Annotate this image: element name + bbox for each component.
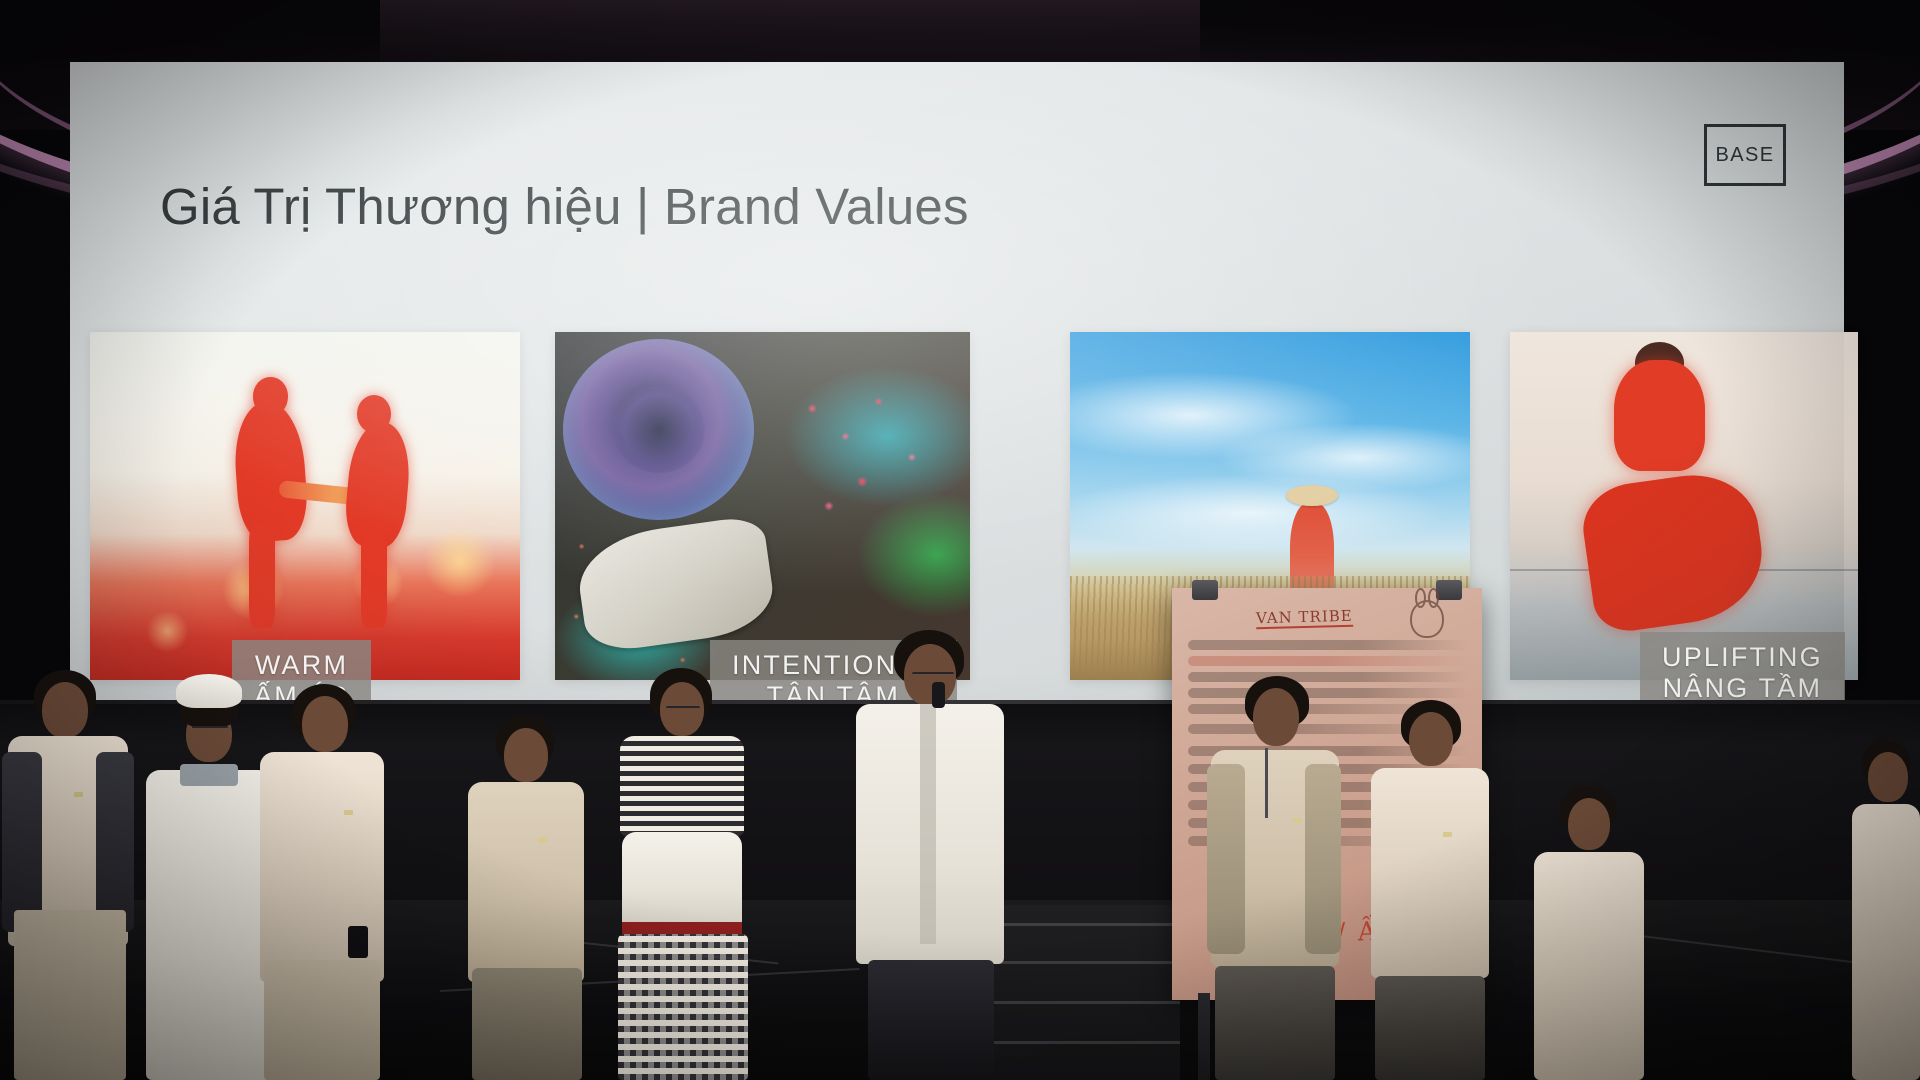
couple-running-on-beach-photo (90, 332, 520, 680)
succulent-garden-photo (555, 332, 970, 680)
base-logo: BASE (1704, 124, 1786, 186)
eyeglasses (192, 726, 228, 732)
stage-scene: Giá Trị Thương hiệu | Brand Values BASE (0, 0, 1920, 1080)
brand-value-image-warm (90, 332, 520, 680)
staff-member-9 (1852, 700, 1920, 1080)
slide-title: Giá Trị Thương hiệu | Brand Values (160, 177, 969, 236)
staff-member-3 (252, 660, 392, 1080)
staff-member-5 (612, 650, 752, 1080)
presenter-with-microphone (850, 630, 1010, 1080)
eyeglasses (666, 706, 700, 712)
bunny-doodle-icon (1410, 600, 1444, 638)
mobile-phone (348, 926, 368, 958)
staff-member-4 (460, 680, 592, 1080)
parent-lifting-child-photo (1510, 332, 1858, 680)
base-logo-text: BASE (1716, 144, 1775, 167)
brand-value-image-intentional (555, 332, 970, 680)
staff-member-8 (1530, 720, 1650, 1080)
staff-member-1 (0, 660, 150, 1080)
projection-screen: Giá Trị Thương hiệu | Brand Values BASE (70, 62, 1844, 702)
handheld-microphone (932, 682, 945, 708)
ceiling-shadow (380, 0, 1200, 70)
flipchart-heading: VAN TRIBE (1256, 607, 1353, 630)
caption-uplifting-en: UPLIFTING (1662, 642, 1823, 673)
brand-value-image-uplifting (1510, 332, 1858, 680)
staff-member-7 (1365, 680, 1495, 1080)
staff-member-6 (1205, 670, 1345, 1080)
eyeglasses (912, 672, 954, 678)
